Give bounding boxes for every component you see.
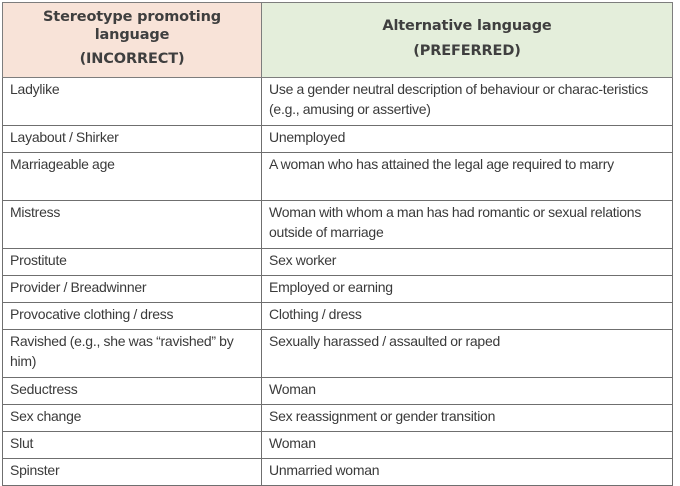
column-header-incorrect-subtitle: (INCORRECT) [11, 51, 253, 69]
cell-incorrect-term: Spinster [3, 459, 262, 486]
column-header-preferred-subtitle: (PREFERRED) [270, 43, 664, 61]
cell-incorrect-term: Layabout / Shirker [3, 126, 262, 153]
table-row: LadylikeUse a gender neutral description… [3, 78, 673, 126]
column-header-incorrect: Stereotype promoting language (INCORRECT… [3, 3, 262, 78]
table-header: Stereotype promoting language (INCORRECT… [3, 3, 673, 78]
cell-incorrect-term: Mistress [3, 201, 262, 249]
table-body: LadylikeUse a gender neutral description… [3, 78, 673, 486]
table-row: Provider / BreadwinnerEmployed or earnin… [3, 276, 673, 303]
cell-incorrect-term: Slut [3, 432, 262, 459]
cell-preferred-term: Employed or earning [262, 276, 673, 303]
table-row: Ravished (e.g., she was “ravished” by hi… [3, 330, 673, 378]
cell-incorrect-term: Provider / Breadwinner [3, 276, 262, 303]
cell-incorrect-term: Ladylike [3, 78, 262, 126]
language-comparison-table-wrapper: Stereotype promoting language (INCORRECT… [2, 2, 672, 486]
cell-preferred-term: Clothing / dress [262, 303, 673, 330]
cell-incorrect-term: Prostitute [3, 249, 262, 276]
cell-preferred-term: Use a gender neutral description of beha… [262, 78, 673, 126]
cell-preferred-term: Sexually harassed / assaulted or raped [262, 330, 673, 378]
column-header-preferred: Alternative language (PREFERRED) [262, 3, 673, 78]
table-row: Sex changeSex reassignment or gender tra… [3, 405, 673, 432]
table-header-row: Stereotype promoting language (INCORRECT… [3, 3, 673, 78]
cell-incorrect-term: Sex change [3, 405, 262, 432]
table-row: SeductressWoman [3, 378, 673, 405]
table-row: Marriageable ageA woman who has attained… [3, 153, 673, 201]
cell-incorrect-term: Seductress [3, 378, 262, 405]
cell-preferred-term: Unmarried woman [262, 459, 673, 486]
table-row: SlutWoman [3, 432, 673, 459]
cell-incorrect-term: Ravished (e.g., she was “ravished” by hi… [3, 330, 262, 378]
cell-preferred-term: Woman [262, 432, 673, 459]
table-row: SpinsterUnmarried woman [3, 459, 673, 486]
column-header-incorrect-title: Stereotype promoting language [11, 9, 253, 44]
cell-preferred-term: A woman who has attained the legal age r… [262, 153, 673, 201]
cell-preferred-term: Woman [262, 378, 673, 405]
cell-preferred-term: Sex worker [262, 249, 673, 276]
cell-preferred-term: Sex reassignment or gender transition [262, 405, 673, 432]
table-row: Provocative clothing / dressClothing / d… [3, 303, 673, 330]
cell-preferred-term: Woman with whom a man has had romantic o… [262, 201, 673, 249]
table-row: MistressWoman with whom a man has had ro… [3, 201, 673, 249]
column-header-preferred-title: Alternative language [270, 18, 664, 36]
cell-incorrect-term: Provocative clothing / dress [3, 303, 262, 330]
table-row: Layabout / ShirkerUnemployed [3, 126, 673, 153]
cell-incorrect-term: Marriageable age [3, 153, 262, 201]
table-row: ProstituteSex worker [3, 249, 673, 276]
cell-preferred-term: Unemployed [262, 126, 673, 153]
language-comparison-table: Stereotype promoting language (INCORRECT… [2, 2, 673, 486]
